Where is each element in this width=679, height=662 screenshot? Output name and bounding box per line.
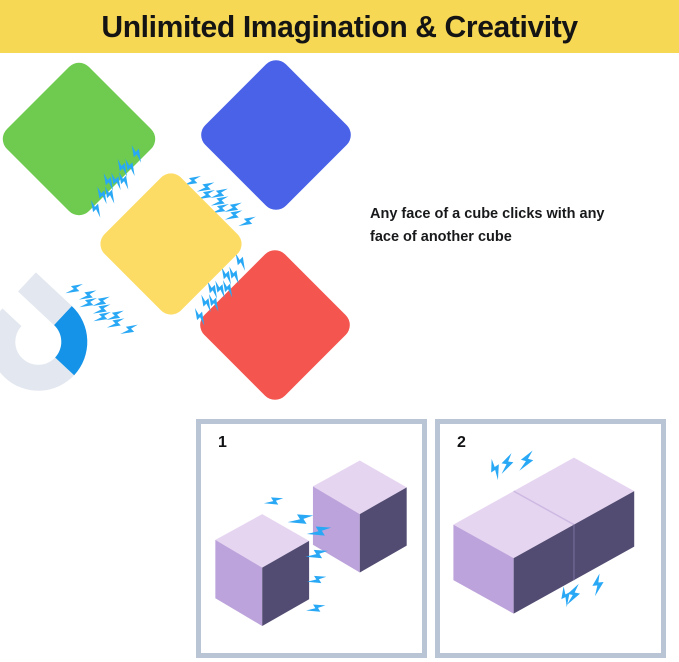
panel-2-artwork <box>440 424 661 653</box>
caption-line-2: face of another cube <box>370 226 650 249</box>
panel-number-2: 2 <box>457 434 466 452</box>
step-panels: 1 <box>196 419 666 658</box>
caption-text: Any face of a cube clicks with any face … <box>370 203 650 250</box>
cube-left <box>215 514 309 626</box>
title-banner: Unlimited Imagination & Creativity <box>0 0 679 53</box>
cube-right <box>313 461 407 573</box>
panel-separate-cubes: 1 <box>196 419 427 658</box>
cube-bar <box>453 458 634 614</box>
panel-joined-cubes: 2 <box>435 419 666 658</box>
green-tile <box>0 57 161 221</box>
panel-1-artwork <box>201 424 422 653</box>
caption-line-1: Any face of a cube clicks with any <box>370 203 650 226</box>
panel-number-1: 1 <box>218 434 227 452</box>
page-title: Unlimited Imagination & Creativity <box>101 9 577 45</box>
spark-cluster-top <box>485 448 536 481</box>
